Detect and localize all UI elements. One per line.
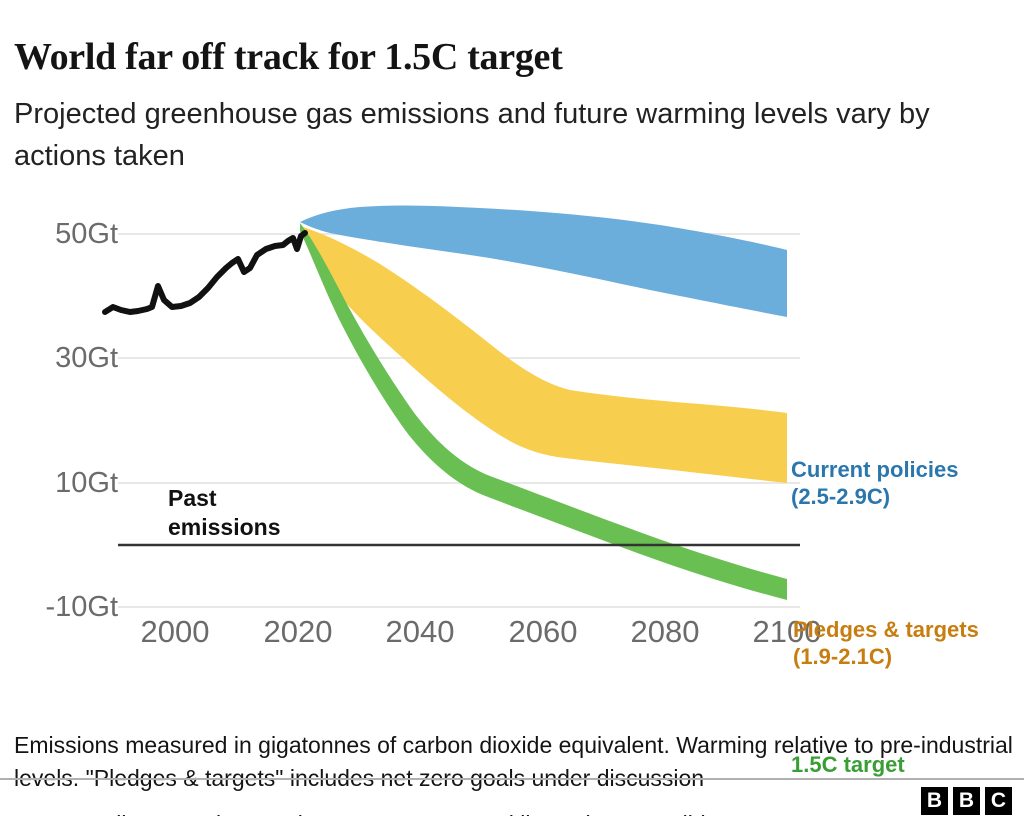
series-label-pledges-targets-range: (1.9-2.1C) [793,643,979,670]
series-label-current-policies-range: (2.5-2.9C) [791,483,958,510]
annotation-past-emissions: Past emissions [168,484,281,542]
annotation-past-emissions-line2: emissions [168,513,281,542]
bbc-logo-letter-1: B [921,787,948,815]
y-tick-10: 10Gt [8,467,118,500]
page-subtitle: Projected greenhouse gas emissions and f… [14,93,944,177]
bbc-logo-letter-2: B [953,787,980,815]
history-line [105,233,305,312]
y-tick-30: 30Gt [8,342,118,375]
page-title: World far off track for 1.5C target [14,33,974,81]
annotation-past-emissions-line1: Past [168,484,281,513]
x-tick-2020: 2020 [238,614,358,650]
emissions-area-chart [0,176,1024,686]
chart-footnote: Emissions measured in gigatonnes of carb… [14,729,1014,795]
chart-plot-area: 50Gt 30Gt 10Gt -10Gt 2000 2020 2040 2060… [0,176,1024,686]
bbc-logo-letter-3: C [985,787,1012,815]
series-label-current-policies: Current policies (2.5-2.9C) [791,456,958,510]
chart-source: Source: Climate Action Tracker, Nov 2024… [14,809,784,816]
series-label-pledges-targets: Pledges & targets (1.9-2.1C) [793,616,979,670]
bbc-logo: B B C [921,787,1012,815]
series-label-current-policies-name: Current policies [791,456,958,483]
x-tick-2080: 2080 [605,614,725,650]
series-label-pledges-targets-name: Pledges & targets [793,616,979,643]
y-tick-50: 50Gt [8,218,118,251]
x-tick-2040: 2040 [360,614,480,650]
y-tick-neg10: -10Gt [8,591,118,624]
x-tick-2000: 2000 [115,614,235,650]
chart-page: World far off track for 1.5C target Proj… [0,0,1024,816]
footer-divider [0,778,1024,780]
x-tick-2060: 2060 [483,614,603,650]
